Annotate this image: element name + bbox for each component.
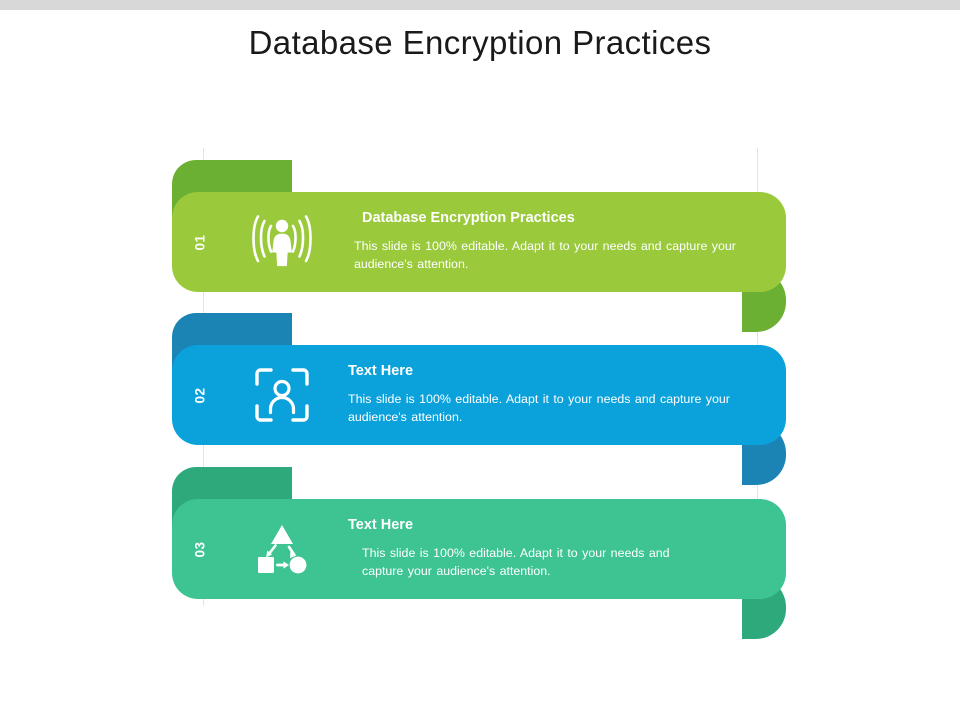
row-number: 01	[180, 192, 220, 292]
page-title: Database Encryption Practices	[0, 24, 960, 62]
row-texts: Text Here This slide is 100% editable. A…	[348, 345, 748, 445]
row-body: This slide is 100% editable. Adapt it to…	[348, 391, 748, 427]
row-body: This slide is 100% editable. Adapt it to…	[354, 238, 774, 274]
row-heading: Database Encryption Practices	[362, 210, 774, 227]
slide-canvas: Database Encryption Practices 01	[0, 0, 960, 720]
row-texts: Text Here This slide is 100% editable. A…	[348, 499, 708, 599]
row-heading: Text Here	[348, 363, 748, 380]
row-bar[interactable]: 02 Text Here This slide is 100% editabl	[172, 345, 786, 445]
top-gray-strip	[0, 0, 960, 10]
person-signal-icon	[248, 210, 316, 274]
row-number-label: 02	[193, 387, 208, 403]
shapes-cycle-icon	[248, 517, 316, 581]
row-number-label: 01	[193, 234, 208, 250]
row-texts: Database Encryption Practices This slide…	[354, 192, 774, 292]
row-number-label: 03	[193, 541, 208, 557]
row-number: 03	[180, 499, 220, 599]
row-heading: Text Here	[348, 517, 708, 534]
row-number: 02	[180, 345, 220, 445]
face-scan-icon	[248, 363, 316, 427]
row-body: This slide is 100% editable. Adapt it to…	[362, 545, 708, 581]
row-bar[interactable]: 01 Database Encryption Pr	[172, 192, 786, 292]
row-bar[interactable]: 03	[172, 499, 786, 599]
